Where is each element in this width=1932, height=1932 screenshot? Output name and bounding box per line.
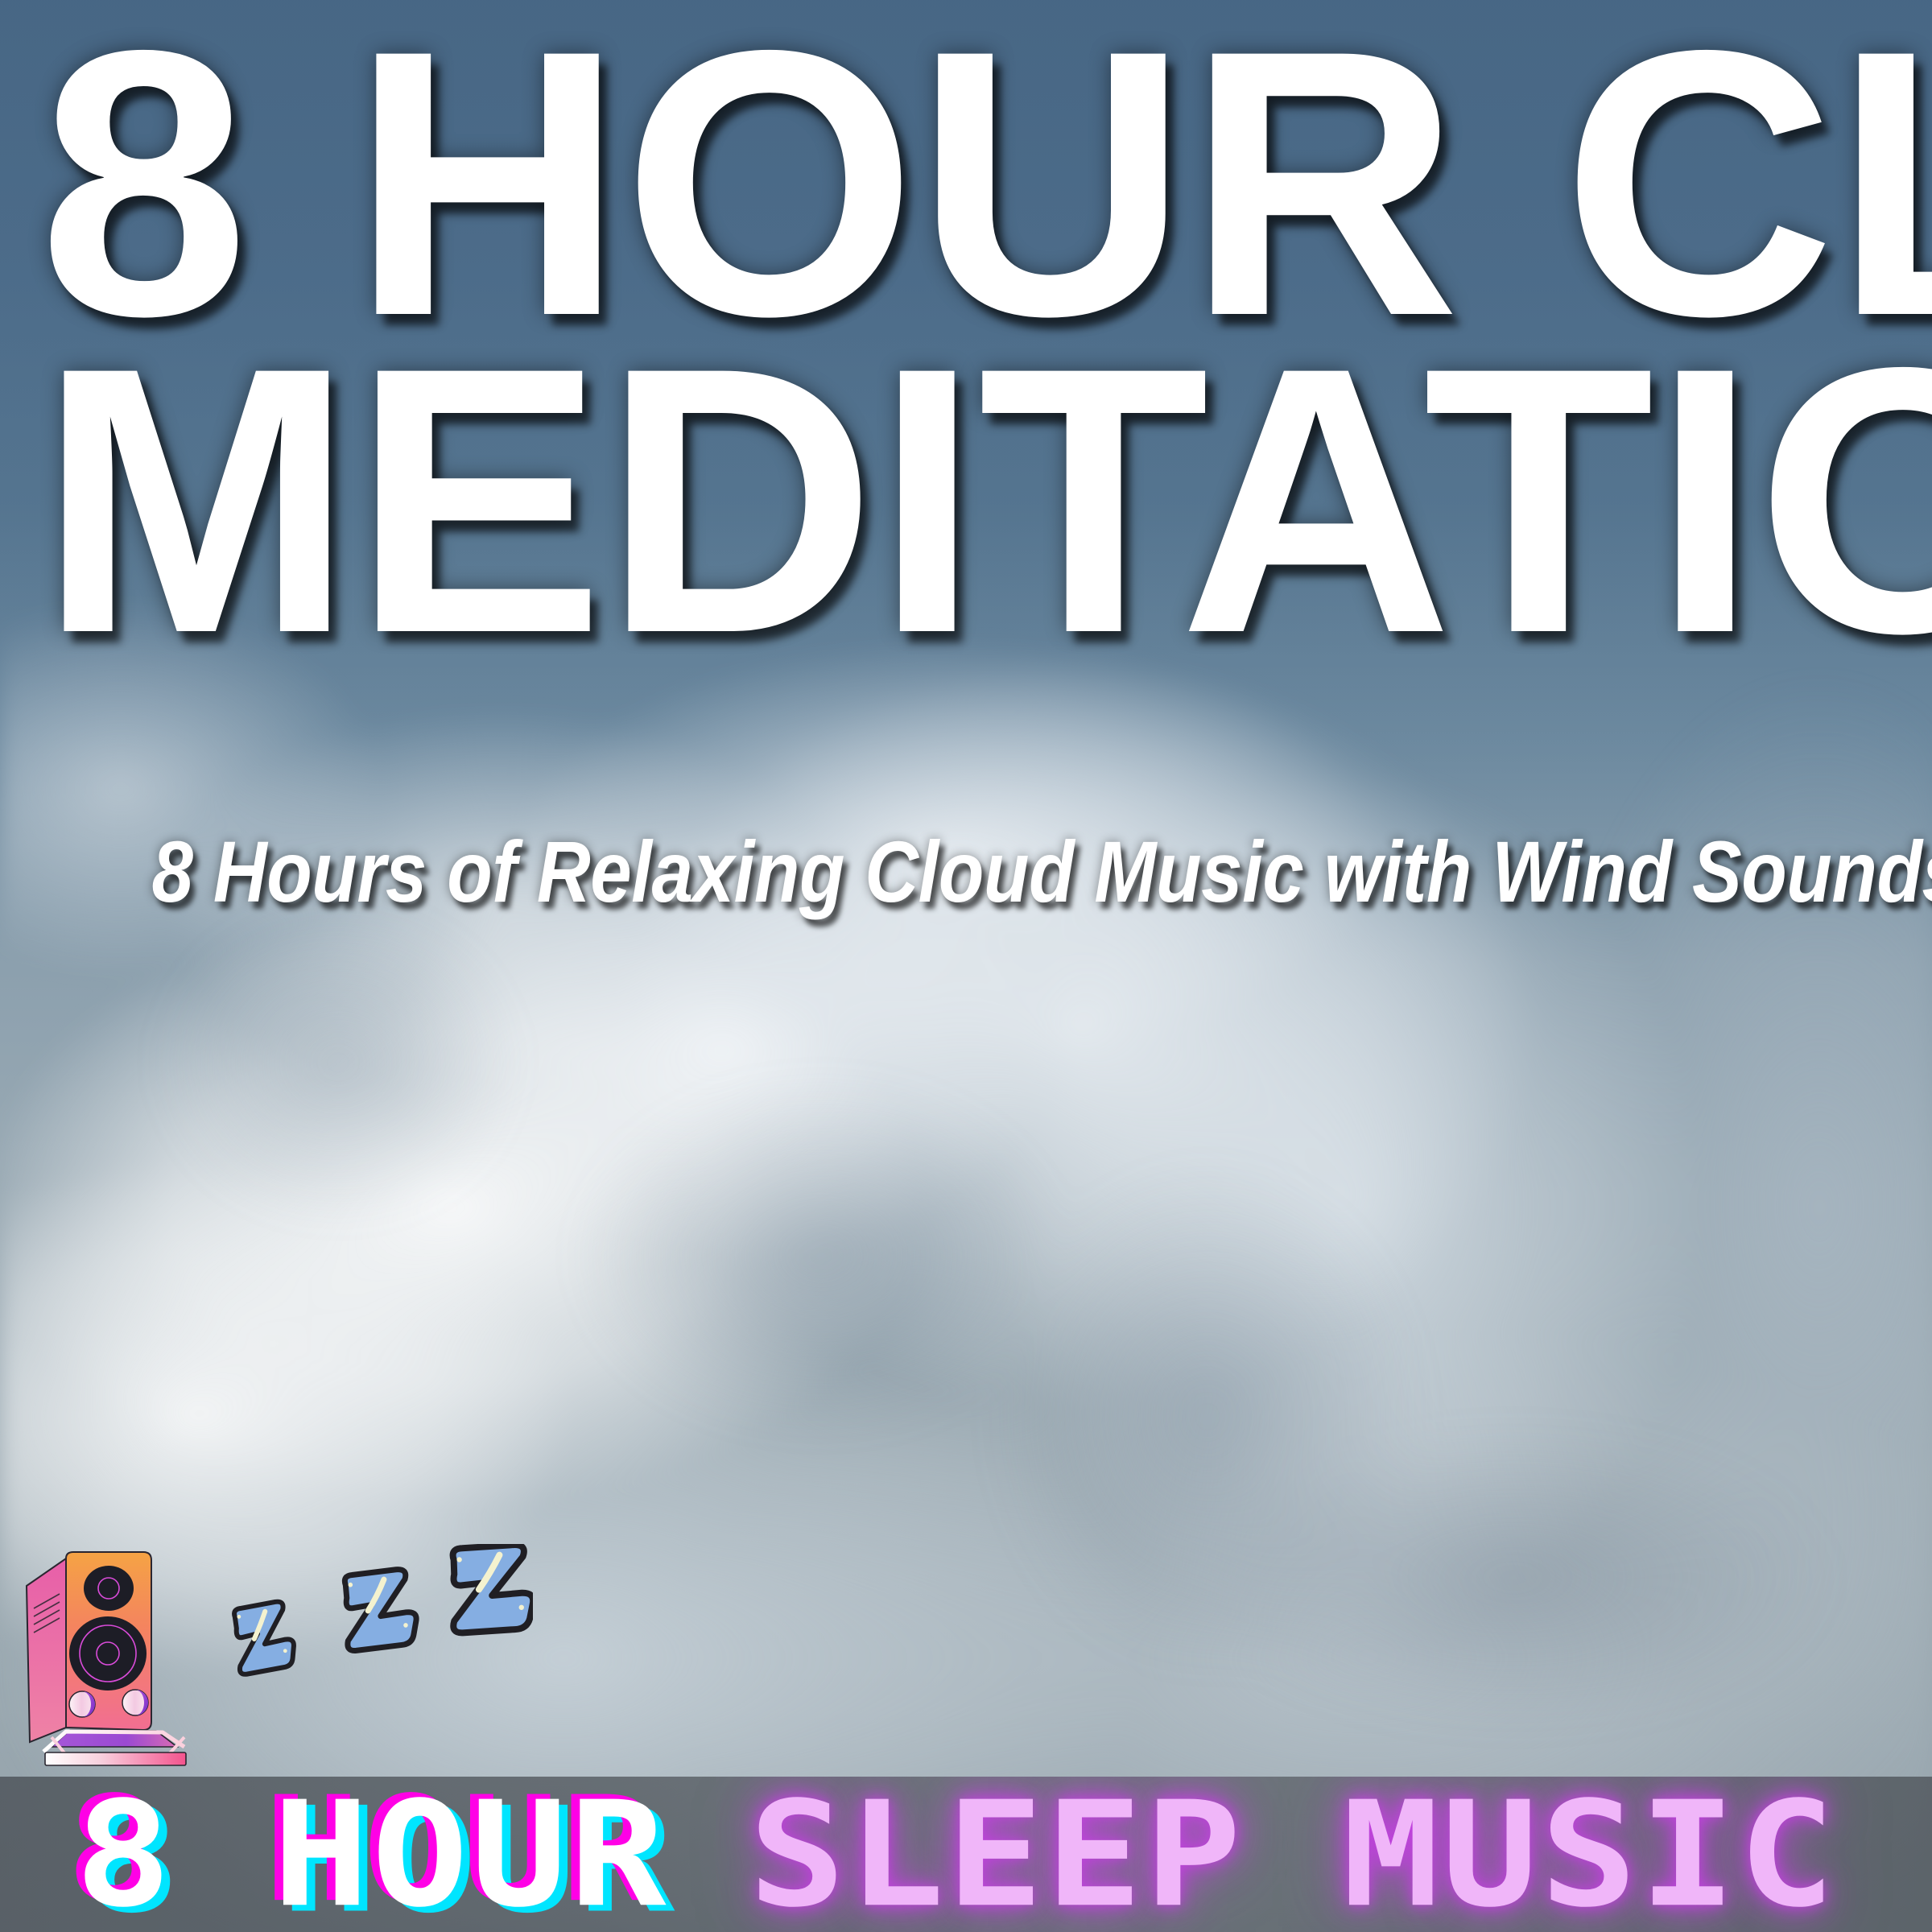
brand-hours-text: 8 HOUR <box>74 1777 675 1932</box>
speaker-knob-right-icon <box>122 1690 148 1715</box>
speaker-woofer-icon <box>69 1616 147 1690</box>
album-cover: 8 HOUR CLOUD MEDITATION 8 Hours of Relax… <box>0 0 1932 1932</box>
speaker-knob-left-icon <box>69 1691 95 1717</box>
title-block: 8 HOUR CLOUD MEDITATION <box>0 32 1932 652</box>
brand-banner: 8 HOUR SLEEP MUSIC <box>0 1777 1932 1932</box>
brand-row: 8 HOUR SLEEP MUSIC <box>48 1785 1884 1924</box>
sleep-z-small-icon <box>231 1600 297 1675</box>
title-line-2: MEDITATION <box>39 349 1932 652</box>
sleep-z-medium-icon <box>341 1568 419 1651</box>
subtitle: 8 Hours of Relaxing Cloud Music with Win… <box>0 821 1932 922</box>
sleep-z-large-icon <box>451 1544 533 1633</box>
speaker-illustration-group <box>19 1544 535 1785</box>
speaker-tweeter-icon <box>84 1566 134 1611</box>
sleep-zzz-group <box>227 1544 533 1737</box>
speaker-stand-icon <box>43 1730 186 1765</box>
brand-name-text: SLEEP MUSIC <box>748 1777 1836 1932</box>
speaker-icon <box>19 1544 229 1785</box>
